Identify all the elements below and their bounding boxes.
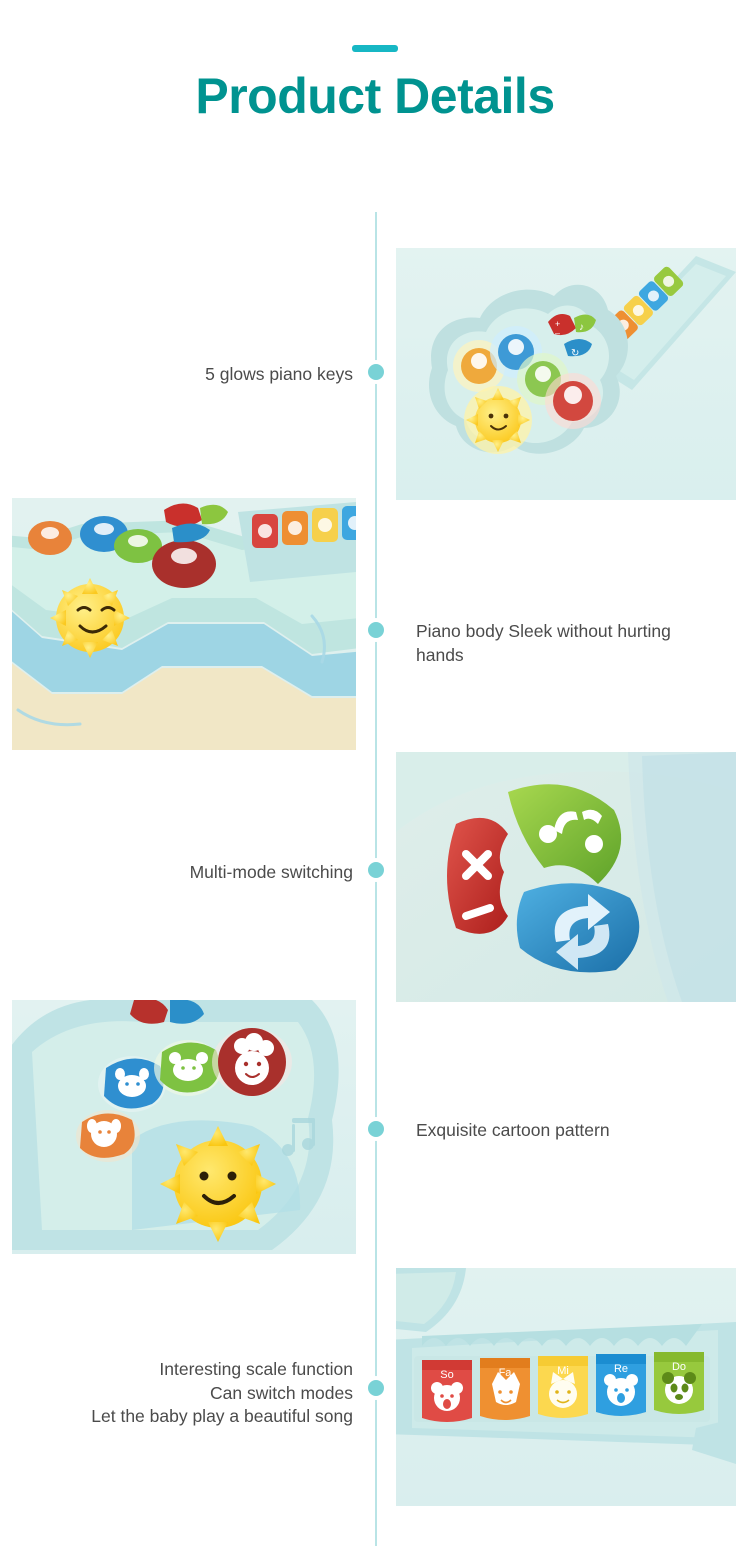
timeline-dot-scale-function [368,1380,384,1396]
product-details-page: Product Details 5 glows piano keys [0,0,750,1546]
svg-text:Do: Do [672,1361,686,1373]
mode-buttons-illustration [396,752,736,1002]
svg-text:♪: ♪ [579,322,584,333]
page-title: Product Details [0,66,750,126]
feature-caption-line-1: Piano body Sleek without hurting [416,621,671,641]
timeline-line [375,212,377,1546]
feature-caption-line-1: Interesting scale function [159,1359,353,1379]
svg-text:So: So [440,1369,453,1381]
svg-text:Re: Re [614,1363,628,1375]
page-header: Product Details [0,0,750,200]
feature-image-glow-keys: + – ♪ ↻ [396,248,736,500]
timeline-dot-multi-mode [368,862,384,878]
feature-caption-text: 5 glows piano keys [205,364,353,384]
feature-caption-line-2: Can switch modes [210,1383,353,1403]
feature-image-sleek-body [12,498,356,750]
svg-text:↻: ↻ [571,348,579,359]
feature-image-multi-mode [396,752,736,1002]
feature-caption-multi-mode: Multi-mode switching [40,861,353,885]
feature-image-scale-function: So Fa Mi [396,1268,736,1506]
svg-text:–: – [555,328,560,338]
toy-guitar-illustration: + – ♪ ↻ [396,248,736,500]
feature-caption-text: Multi-mode switching [190,862,353,882]
scale-key-group: So Fa Mi [422,1352,704,1422]
animal-buttons-illustration [12,1000,356,1254]
timeline-dot-glow-keys [368,364,384,380]
timeline-dot-sleek-body [368,622,384,638]
feature-caption-cartoon-pattern: Exquisite cartoon pattern [416,1119,726,1143]
svg-text:Mi: Mi [557,1365,569,1377]
feature-caption-sleek-body: Piano body Sleek without hurting hands [416,620,726,667]
feature-image-cartoon-pattern [12,1000,356,1254]
feature-caption-text: Exquisite cartoon pattern [416,1120,610,1140]
header-accent-rule [352,45,398,52]
toy-body-edge-illustration [12,498,356,750]
feature-caption-scale-function: Interesting scale function Can switch mo… [20,1358,353,1429]
scale-keys-illustration: So Fa Mi [396,1268,736,1506]
feature-caption-glow-keys: 5 glows piano keys [40,363,353,387]
feature-caption-line-3: Let the baby play a beautiful song [91,1406,353,1426]
feature-caption-line-2: hands [416,645,464,665]
timeline-dot-cartoon-pattern [368,1121,384,1137]
